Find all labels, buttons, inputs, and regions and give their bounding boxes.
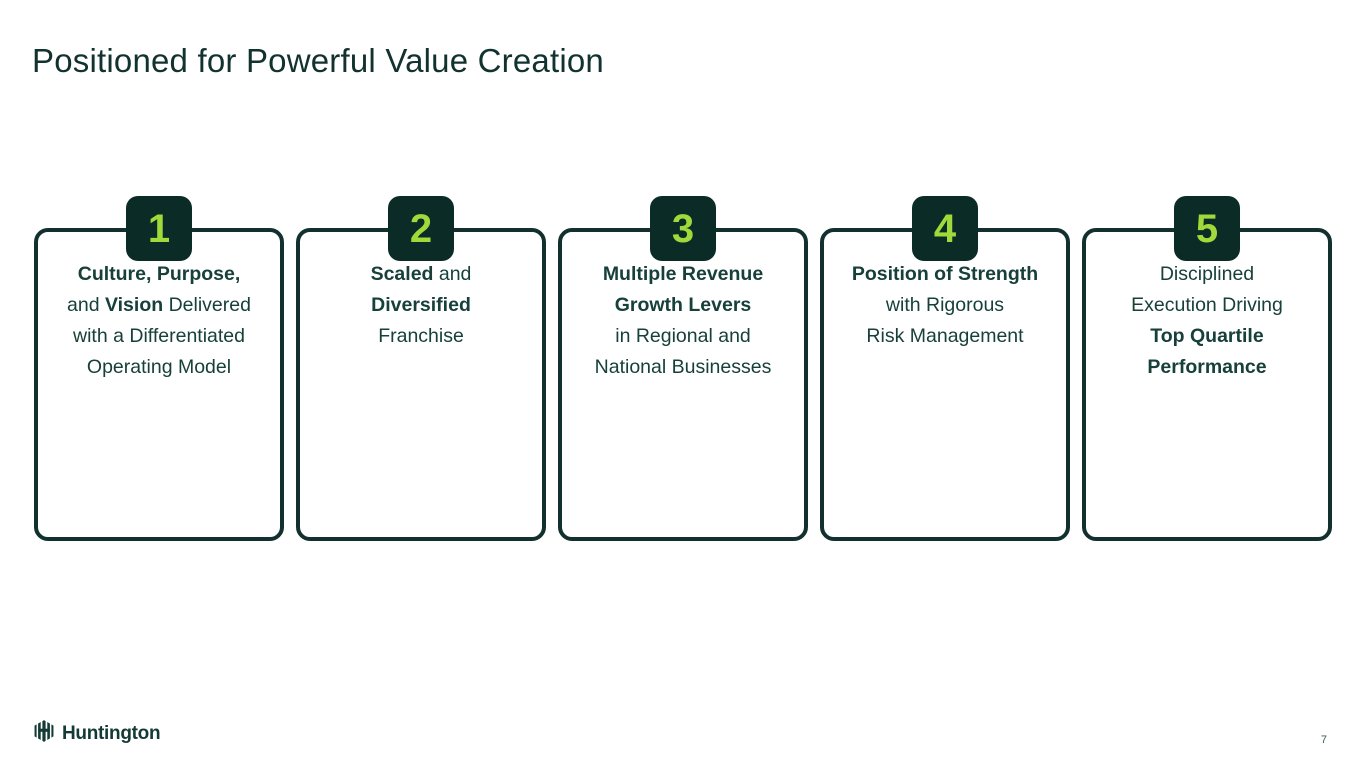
value-card-text-line: Multiple Revenue [568, 259, 798, 290]
value-card-3[interactable]: 3Multiple RevenueGrowth Leversin Regiona… [558, 196, 808, 541]
normal-text: Delivered [163, 294, 251, 316]
normal-text: and [433, 263, 471, 285]
normal-text: with a Differentiated [73, 325, 245, 347]
card-number-label: 3 [672, 209, 694, 249]
value-card-text-line: Position of Strength [830, 259, 1060, 290]
value-card-text-line: Growth Levers [568, 290, 798, 321]
value-card-4[interactable]: 4Position of Strengthwith RigorousRisk M… [820, 196, 1070, 541]
huntington-wordmark: Huntington [62, 723, 160, 745]
huntington-logo: Huntington [33, 719, 160, 748]
emphasis-text: Diversified [371, 294, 471, 316]
emphasis-text: Multiple Revenue [603, 263, 763, 285]
normal-text: and [67, 294, 105, 316]
value-card-text-line: with Rigorous [830, 290, 1060, 321]
value-card-text-line: Scaled and [306, 259, 536, 290]
value-card-text-line: Execution Driving [1092, 290, 1322, 321]
value-card-text: Position of Strengthwith RigorousRisk Ma… [830, 259, 1060, 352]
normal-text: Execution Driving [1131, 294, 1283, 316]
value-card-text-line: Operating Model [44, 352, 274, 383]
value-card-text-line: with a Differentiated [44, 321, 274, 352]
value-card-text: Multiple RevenueGrowth Leversin Regional… [568, 259, 798, 383]
normal-text: Franchise [378, 325, 464, 347]
card-number-label: 1 [148, 209, 170, 249]
emphasis-text: Performance [1147, 356, 1266, 378]
emphasis-text: Position of Strength [852, 263, 1038, 285]
emphasis-text: Culture, Purpose, [78, 263, 241, 285]
value-creation-card-row: 1Culture, Purpose,and Vision Deliveredwi… [34, 196, 1332, 541]
card-number-label: 5 [1196, 209, 1218, 249]
card-number-badge: 3 [650, 196, 716, 261]
card-number-badge: 1 [126, 196, 192, 261]
normal-text: Operating Model [87, 356, 231, 378]
card-number-badge: 5 [1174, 196, 1240, 261]
value-card-text: DisciplinedExecution DrivingTop Quartile… [1092, 259, 1322, 383]
normal-text: with Rigorous [886, 294, 1004, 316]
value-card-text: Culture, Purpose,and Vision Deliveredwit… [44, 259, 274, 383]
normal-text: in Regional and [615, 325, 751, 347]
value-card-text-line: Performance [1092, 352, 1322, 383]
emphasis-text: Top Quartile [1150, 325, 1263, 347]
card-number-label: 2 [410, 209, 432, 249]
page-title: Positioned for Powerful Value Creation [32, 42, 604, 80]
value-card-text-line: Franchise [306, 321, 536, 352]
card-number-label: 4 [934, 209, 956, 249]
emphasis-text: Vision [105, 294, 163, 316]
value-card-text-line: Risk Management [830, 321, 1060, 352]
value-card-1[interactable]: 1Culture, Purpose,and Vision Deliveredwi… [34, 196, 284, 541]
value-card-text-line: Top Quartile [1092, 321, 1322, 352]
card-number-badge: 4 [912, 196, 978, 261]
value-card-text-line: Disciplined [1092, 259, 1322, 290]
card-number-badge: 2 [388, 196, 454, 261]
value-card-text-line: in Regional and [568, 321, 798, 352]
normal-text: Disciplined [1160, 263, 1254, 285]
value-card-2[interactable]: 2Scaled andDiversifiedFranchise [296, 196, 546, 541]
value-card-text-line: and Vision Delivered [44, 290, 274, 321]
page-number: 7 [1321, 734, 1327, 746]
value-card-text: Scaled andDiversifiedFranchise [306, 259, 536, 352]
value-card-text-line: Culture, Purpose, [44, 259, 274, 290]
value-card-5[interactable]: 5DisciplinedExecution DrivingTop Quartil… [1082, 196, 1332, 541]
huntington-hexagon-logo-icon [33, 719, 55, 748]
value-card-text-line: Diversified [306, 290, 536, 321]
value-card-text-line: National Businesses [568, 352, 798, 383]
normal-text: National Businesses [595, 356, 772, 378]
emphasis-text: Growth Levers [615, 294, 752, 316]
normal-text: Risk Management [866, 325, 1023, 347]
emphasis-text: Scaled [371, 263, 434, 285]
